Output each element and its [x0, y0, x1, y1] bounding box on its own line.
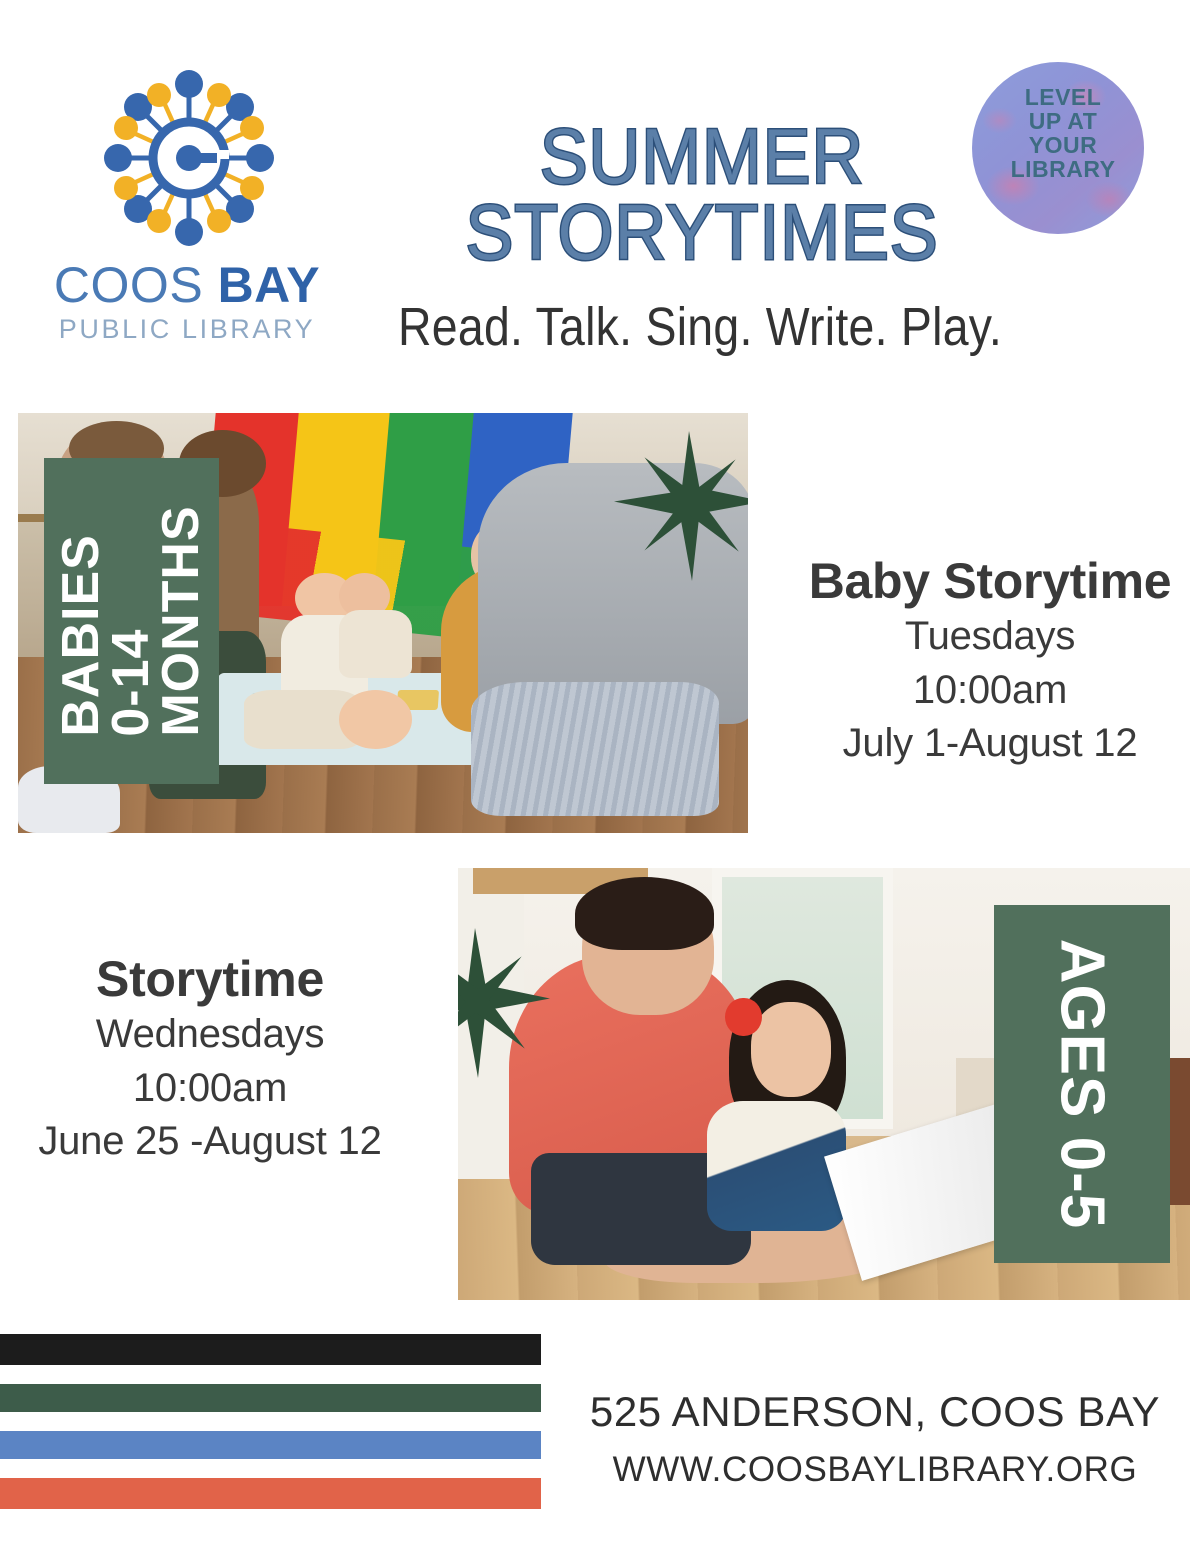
- footer-bar-black: [0, 1334, 541, 1365]
- storytime-title: Storytime: [10, 950, 410, 1008]
- baby-storytime-details: Baby Storytime Tuesdays 10:00am July 1-A…: [790, 552, 1190, 771]
- sparkle-star-icon: [614, 431, 748, 581]
- badge-line-4: LIBRARY: [992, 158, 1134, 182]
- logo-name-secondary: BAY: [218, 257, 320, 313]
- baby-storytime-title: Baby Storytime: [790, 552, 1190, 610]
- title-line-2: STORYTIMES: [380, 194, 1024, 270]
- badge-text: LEVEL UP AT YOUR LIBRARY: [992, 86, 1134, 182]
- footer-bar-green: [0, 1384, 541, 1412]
- level-up-badge: LEVEL UP AT YOUR LIBRARY: [962, 62, 1147, 247]
- age-label-babies-text: BABIES 0-14 MONTHS: [57, 505, 207, 736]
- storytime-dates: June 25 -August 12: [10, 1115, 410, 1169]
- sparkle-star-icon: [458, 928, 550, 1078]
- coos-bay-starburst-logo-icon: [94, 62, 284, 258]
- badge-line-2: UP AT: [992, 110, 1134, 134]
- tagline: Read. Talk. Sing. Write. Play.: [356, 296, 1044, 358]
- age-label-line-3: MONTHS: [156, 505, 206, 736]
- age-label-babies: BABIES 0-14 MONTHS: [44, 458, 219, 784]
- footer-bar-blue: [0, 1431, 541, 1459]
- badge-line-3: YOUR: [992, 134, 1134, 158]
- footer-address: 525 ANDERSON, COOS BAY: [560, 1386, 1190, 1437]
- page-title: SUMMER STORYTIMES: [352, 118, 1052, 271]
- footer-website[interactable]: WWW.COOSBAYLIBRARY.ORG: [560, 1449, 1190, 1492]
- age-label-ages: AGES 0-5: [994, 905, 1170, 1263]
- summer-storytimes-flyer: COOS BAY PUBLIC LIBRARY SUMMER STORYTIME…: [0, 0, 1200, 1553]
- age-label-line-1: BABIES: [57, 505, 107, 736]
- storytime-time: 10:00am: [10, 1062, 410, 1116]
- badge-line-1: LEVEL: [992, 86, 1134, 110]
- footer-bar-coral: [0, 1478, 541, 1509]
- storytime-details: Storytime Wednesdays 10:00am June 25 -Au…: [10, 950, 410, 1169]
- footer-contact: 525 ANDERSON, COOS BAY WWW.COOSBAYLIBRAR…: [560, 1386, 1190, 1492]
- logo-wordmark: COOS BAY PUBLIC LIBRARY: [42, 260, 332, 343]
- age-label-line-2: 0-14: [107, 505, 157, 736]
- logo-name-primary: COOS: [54, 257, 203, 313]
- library-logo: COOS BAY PUBLIC LIBRARY: [42, 62, 332, 362]
- storytime-day: Wednesdays: [10, 1008, 410, 1062]
- title-line-1: SUMMER: [380, 118, 1024, 194]
- age-label-ages-text: AGES 0-5: [1047, 939, 1118, 1230]
- baby-storytime-time: 10:00am: [790, 664, 1190, 718]
- baby-storytime-dates: July 1-August 12: [790, 717, 1190, 771]
- baby-storytime-day: Tuesdays: [790, 610, 1190, 664]
- logo-name-sub: PUBLIC LIBRARY: [42, 316, 332, 343]
